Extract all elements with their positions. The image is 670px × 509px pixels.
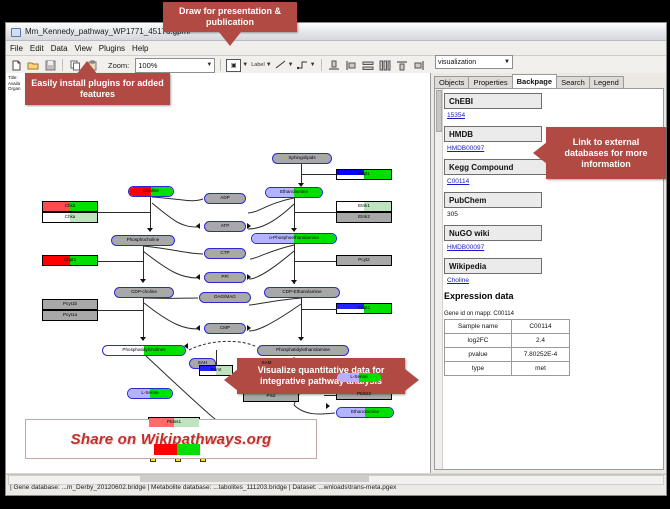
pathway-gene-chka[interactable]: Chka <box>42 212 98 223</box>
menu-item-plugins[interactable]: Plugins <box>99 44 125 53</box>
line-icon <box>275 60 287 70</box>
pathway-node-choline[interactable]: Choline <box>128 186 174 197</box>
expression-data-heading: Expression data <box>444 291 660 301</box>
tab-legend[interactable]: Legend <box>589 76 624 88</box>
connector-etnk-to-reaction <box>294 212 336 213</box>
pathway-gene-ptdss1[interactable]: Ptdss1 <box>148 417 200 428</box>
node-label: Pcyt1a <box>63 313 77 318</box>
node-label: Chka <box>65 215 76 220</box>
node-label: Phosphatidylcholines <box>122 348 165 353</box>
connector-ethanolamine-to-ope <box>294 198 295 231</box>
connector-ekpl1-to-reaction <box>301 174 336 175</box>
node-label: Etnk2 <box>358 215 370 220</box>
pathway-gene-etnk1[interactable]: Etnk1 <box>336 201 392 212</box>
pathway-node-phosphocholine[interactable]: Phosphocholine <box>111 235 175 246</box>
chevron-down-icon: ▼ <box>288 62 294 68</box>
db-header-chebi: ChEBI <box>444 93 542 109</box>
table-row: Sample name C00114 <box>445 320 570 334</box>
align-bottom-icon[interactable] <box>327 58 341 72</box>
pathway-node-cdp-choline[interactable]: CDP-choline <box>114 287 174 298</box>
save-icon[interactable] <box>43 58 57 72</box>
connector-chk-to-reaction <box>98 212 150 213</box>
node-label: SAM <box>262 361 272 366</box>
pathway-canvas-pane[interactable]: Title: Availa Organ <box>6 73 431 473</box>
toolbar-separator <box>321 59 322 71</box>
backpage-scrollbar[interactable] <box>435 89 443 469</box>
pathway-gene-pcyt1b[interactable]: Pcyt1b <box>42 299 98 310</box>
db-header-pubchem: PubChem <box>444 192 542 208</box>
table-row: type met <box>445 362 570 376</box>
connector-cept1-to-reaction <box>301 309 336 310</box>
arrow-down-icon <box>291 228 297 232</box>
label-dropdown[interactable]: Label ▼ <box>251 62 271 68</box>
connector-icon <box>297 60 309 70</box>
node-label: Etnk1 <box>358 204 370 209</box>
expression-data-table: Sample name C00114 log2FC 2.4 pvalue 7.8… <box>444 319 570 376</box>
shape-icon: ▣ <box>226 59 241 72</box>
pathway-node-l-serine-left[interactable]: L-Serine <box>127 388 173 399</box>
menu-item-file[interactable]: File <box>10 44 23 53</box>
callout-arrow-links <box>533 142 547 164</box>
callout-draw-for-presentation: Draw for presentation & publication <box>163 2 297 32</box>
callout-link-to-external-databases: Link to external databases for more info… <box>546 127 666 179</box>
node-label: Pcyt1b <box>63 302 77 307</box>
pathway-gene-pemt[interactable]: Pemt <box>199 365 233 376</box>
chevron-down-icon: ▼ <box>206 62 212 68</box>
menu-item-view[interactable]: View <box>75 44 92 53</box>
connector-ope-to-cdpetn <box>294 244 295 284</box>
pathway-node-l-serine-right[interactable]: L-Serine <box>336 372 382 383</box>
tab-objects[interactable]: Objects <box>434 76 469 88</box>
arrow-down-icon <box>140 279 146 283</box>
connector-choline-to-phosphocholine <box>150 197 151 231</box>
db-link-kegg-compound[interactable]: C00114 <box>447 178 660 185</box>
chevron-down-icon: ▼ <box>310 62 316 68</box>
pathway-gene-ekpl1[interactable]: Ekpl1 <box>336 169 392 180</box>
node-label: Ethanolamine <box>280 190 308 195</box>
node-fill-green <box>177 444 200 455</box>
gene-id-on-mapp: Gene id on mapp: C00114 <box>444 311 660 317</box>
node-label: SAH <box>198 361 207 366</box>
node-label: Pisd <box>267 394 276 399</box>
arrow-left-icon <box>196 274 200 280</box>
menu-item-data[interactable]: Data <box>51 44 68 53</box>
pathway-node-adp[interactable]: ADP <box>204 193 246 204</box>
db-value-pubchem: 305 <box>447 211 660 218</box>
db-header-hmdb: HMDB <box>444 126 542 142</box>
arrow-left-icon <box>247 325 251 331</box>
pathway-gene-pcyt2[interactable]: Pcyt2 <box>336 255 392 266</box>
table-row: log2FC 2.4 <box>445 334 570 348</box>
connector-chpt1-to-reaction <box>98 261 143 262</box>
arrow-left-icon <box>247 223 251 229</box>
pathway-gene-chkb[interactable]: Chkb <box>42 201 98 212</box>
node-label: Phosphatidylethanolamine <box>276 348 330 353</box>
node-label: Chpt1 <box>64 258 76 263</box>
connector-dropdown[interactable]: ▼ <box>297 60 316 70</box>
cell-key: pvalue <box>445 348 512 362</box>
status-bar: | Gene database: ...m_Derby_20120602.bri… <box>6 474 666 495</box>
node-label: ATP <box>221 224 230 229</box>
node-label: L-Serine <box>350 375 367 380</box>
pathway-gene-pcyt1a[interactable]: Pcyt1a <box>42 310 98 321</box>
node-label: Ethanolamine <box>351 410 379 415</box>
node-label: Sphingolipids <box>288 156 315 161</box>
visualization-value: visualization <box>438 59 476 66</box>
arrow-left-icon <box>196 325 200 331</box>
status-bar-text: | Gene database: ...m_Derby_20120602.bri… <box>10 484 396 491</box>
connector-pcyt2-to-reaction <box>294 261 336 262</box>
cell-value: 2.4 <box>512 334 570 348</box>
db-link-nugo-wiki[interactable]: HMDB00097 <box>447 244 660 251</box>
callout-arrow-visualize-right <box>405 369 419 391</box>
callout-easily-install-plugins: Easily install plugins for added feature… <box>25 73 170 105</box>
connector-pemt-vertical <box>216 350 217 366</box>
toolbar-separator <box>220 59 221 71</box>
pathway-node-ppi[interactable]: PPi <box>204 272 246 283</box>
arrow-down-icon <box>291 280 297 284</box>
arrow-left-icon <box>326 403 330 409</box>
zoom-combobox[interactable]: 100% ▼ <box>135 58 215 73</box>
cell-value: 7.80252E-4 <box>512 348 570 362</box>
screenshot-root: Mm_Kennedy_pathway_WP1771_45176.gpml Fil… <box>0 0 670 509</box>
pathway-gene-chpt1[interactable]: Chpt1 <box>42 255 98 266</box>
node-label: CMP <box>220 326 230 331</box>
menu-item-edit[interactable]: Edit <box>30 44 44 53</box>
tab-search[interactable]: Search <box>556 76 590 88</box>
side-panel-tabs: Objects Properties Backpage Search Legen… <box>434 75 664 89</box>
new-file-icon[interactable] <box>9 58 23 72</box>
callout-arrow-draw <box>219 32 241 46</box>
open-folder-icon[interactable] <box>26 58 40 72</box>
cell-value: C00114 <box>512 320 570 334</box>
cell-key: log2FC <box>445 334 512 348</box>
align-rows-icon[interactable] <box>361 58 375 72</box>
db-link-wikipedia[interactable]: Choline <box>447 277 660 284</box>
node-label: PPi <box>221 275 228 280</box>
node-label: Ekpl1 <box>358 172 370 177</box>
pathway-node-phosphatidylcholines[interactable]: Phosphatidylcholines <box>102 345 186 356</box>
node-label: Pcyt2 <box>358 258 370 263</box>
align-left-icon[interactable] <box>344 58 358 72</box>
node-label: DAG/MAG <box>214 295 236 300</box>
title-bar: Mm_Kennedy_pathway_WP1771_45176.gpml <box>6 23 666 41</box>
node-label: Ptdss1 <box>167 420 181 425</box>
connector-cdpcholine-to-pc <box>143 298 144 340</box>
arrow-down-icon <box>147 228 153 232</box>
pathway-node-ethanolamine-top[interactable]: Ethanolamine <box>265 187 323 198</box>
node-label: L-Serine <box>141 391 158 396</box>
node-label: Ptdss2 <box>357 392 371 397</box>
callout-arrow-plugins <box>76 61 98 75</box>
align-top-icon[interactable] <box>395 58 409 72</box>
db-header-nugo-wiki: NuGO wiki <box>444 225 542 241</box>
node-label: Pemt <box>211 368 222 373</box>
arrow-down-icon <box>140 337 146 341</box>
pathway-node-ctp[interactable]: CTP <box>204 248 246 259</box>
pathway-gene-etnk2[interactable]: Etnk2 <box>336 212 392 223</box>
node-label: Chkb <box>65 204 76 209</box>
chevron-down-icon: ▼ <box>504 59 510 65</box>
visualization-combobox[interactable]: visualization ▼ <box>435 55 513 69</box>
chevron-down-icon: ▼ <box>242 62 248 68</box>
pathway-node-atp[interactable]: ATP <box>204 221 246 232</box>
shape-dropdown[interactable]: ▣ ▼ <box>226 59 248 72</box>
node-label: Phosphocholine <box>127 238 160 243</box>
db-header-wikipedia: Wikipedia <box>444 258 542 274</box>
align-right-icon[interactable] <box>412 58 426 72</box>
zoom-value: 100% <box>138 61 157 70</box>
db-link-chebi[interactable]: 15354 <box>447 112 660 119</box>
node-label: CDP-Ethanolamine <box>282 290 321 295</box>
pathway-gene-cept1[interactable]: Cept1 <box>336 303 392 314</box>
node-label: CTP <box>220 251 229 256</box>
pathway-node-dag-mag[interactable]: DAG/MAG <box>199 292 251 303</box>
arrow-left-icon <box>247 274 251 280</box>
table-row: pvalue 7.80252E-4 <box>445 348 570 362</box>
pathway-diagram[interactable]: Sphingolipids Choline Ethanolamine ADP <box>6 73 430 473</box>
label-dropdown-text: Label <box>251 62 264 68</box>
tab-properties[interactable]: Properties <box>468 76 512 88</box>
arrow-down-icon <box>298 337 304 341</box>
connector-phosphocholine-to-cdpcholine <box>143 246 144 282</box>
cell-key: type <box>445 362 512 376</box>
chevron-down-icon: ▼ <box>266 62 272 68</box>
cell-key: Sample name <box>445 320 512 334</box>
pathway-node-sphingolipids[interactable]: Sphingolipids <box>272 153 332 164</box>
pathway-node-cmp[interactable]: CMP <box>204 323 246 334</box>
toolbar-separator <box>62 59 63 71</box>
zoom-label: Zoom: <box>108 61 129 70</box>
pathway-node-choline-selected[interactable]: Choline <box>153 443 201 456</box>
pathway-node-o-phosphoethanolamine[interactable]: o-Phosphoethanolamine <box>251 233 337 244</box>
connector-pcyt-to-reaction <box>98 310 143 311</box>
node-label: Choline <box>143 189 159 194</box>
pathway-node-ethanolamine-bottom[interactable]: Ethanolamine <box>336 407 394 418</box>
menu-item-help[interactable]: Help <box>132 44 148 53</box>
node-label: ADP <box>220 196 229 201</box>
pathway-node-cdp-ethanolamine[interactable]: CDP-Ethanolamine <box>264 287 340 298</box>
tab-backpage[interactable]: Backpage <box>512 74 557 88</box>
node-fill-red <box>154 444 177 455</box>
node-label: o-Phosphoethanolamine <box>269 236 319 241</box>
arrow-left-icon <box>196 223 200 229</box>
connector-cdpetn-to-pe <box>301 298 302 340</box>
node-label: CDP-choline <box>131 290 157 295</box>
pathway-node-phosphatidylethanolamine[interactable]: Phosphatidylethanolamine <box>257 345 349 356</box>
cell-value: met <box>512 362 570 376</box>
align-columns-icon[interactable] <box>378 58 392 72</box>
line-dropdown[interactable]: ▼ <box>275 60 294 70</box>
node-label: Cept1 <box>358 306 370 311</box>
menu-bar: File Edit Data View Plugins Help <box>6 41 666 56</box>
pathvisio-icon <box>10 26 21 37</box>
